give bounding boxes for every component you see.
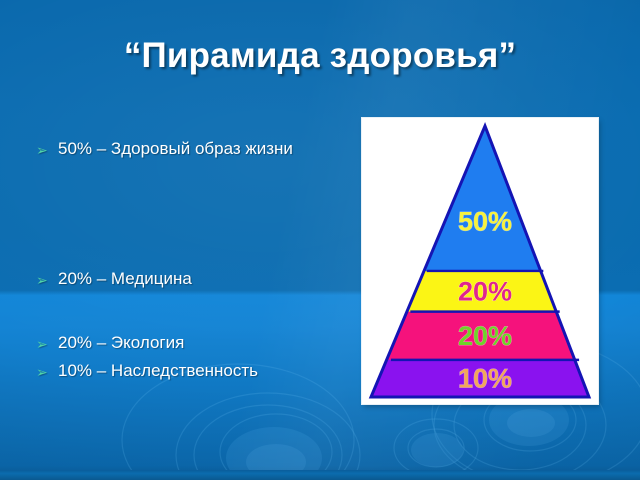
list-item-label: 20% – Экология bbox=[58, 332, 366, 354]
list-item[interactable]: ➢ 20% – Экология bbox=[36, 332, 366, 354]
list-item[interactable]: ➢ 50% – Здоровый образ жизни bbox=[36, 138, 366, 160]
pyramid-label-4: 10% bbox=[458, 363, 512, 393]
arrow-bullet-icon: ➢ bbox=[36, 362, 58, 382]
spacer bbox=[36, 290, 366, 332]
list-item[interactable]: ➢ 10% – Наследственность bbox=[36, 360, 366, 382]
pyramid-label-1: 50% bbox=[458, 206, 512, 236]
pyramid-label-3: 20% bbox=[458, 321, 512, 351]
arrow-bullet-icon: ➢ bbox=[36, 334, 58, 354]
presentation-slide: “Пирамида здоровья” ➢ 50% – Здоровый обр… bbox=[0, 0, 640, 480]
slide-title: “Пирамида здоровья” bbox=[0, 36, 640, 76]
arrow-bullet-icon: ➢ bbox=[36, 270, 58, 290]
pyramid-bands bbox=[362, 126, 598, 398]
list-item-label: 10% – Наследственность bbox=[58, 360, 366, 382]
pyramid-chart-card[interactable]: 50% 20% 20% 10% bbox=[362, 118, 598, 404]
arrow-bullet-icon: ➢ bbox=[36, 140, 58, 160]
pyramid-band-1 bbox=[362, 126, 598, 271]
background-bottom-strip bbox=[0, 470, 640, 480]
spacer bbox=[36, 160, 366, 268]
bullet-list: ➢ 50% – Здоровый образ жизни ➢ 20% – Мед… bbox=[36, 138, 366, 382]
health-pyramid-chart: 50% 20% 20% 10% bbox=[362, 118, 598, 404]
list-item[interactable]: ➢ 20% – Медицина bbox=[36, 268, 366, 290]
list-item-label: 20% – Медицина bbox=[58, 268, 366, 290]
pyramid-label-2: 20% bbox=[458, 276, 512, 306]
list-item-label: 50% – Здоровый образ жизни bbox=[58, 138, 366, 160]
